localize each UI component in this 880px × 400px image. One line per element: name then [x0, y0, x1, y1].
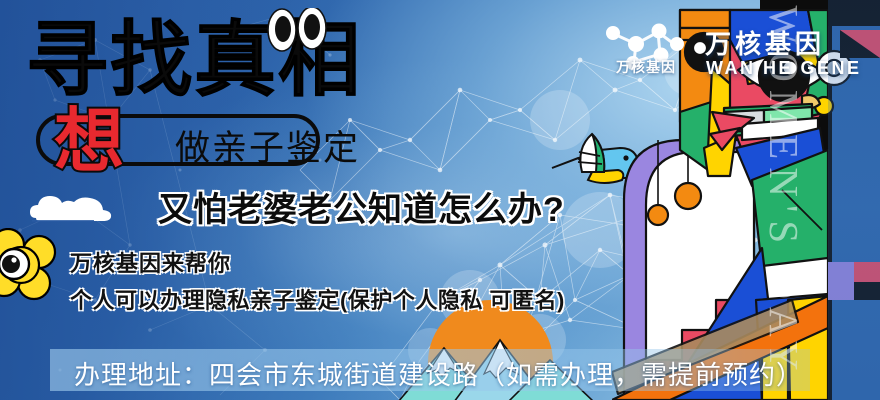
brand-molecule-label: 万核基因 [600, 57, 692, 77]
accent-character: 想 [54, 106, 124, 176]
address-text: 办理地址：四会市东城街道建设路（如需办理，需提前预约） [74, 355, 803, 392]
cartoon-eyes-icon [266, 8, 328, 52]
banner-root: WOMEN'S DAY 万核基因 万核基因 WAN HE GENE 寻找真相 做… [0, 0, 880, 400]
body-line-1: 万核基因来帮你 [70, 246, 231, 278]
flower-eye-icon [0, 228, 60, 304]
body-line-2: 个人可以办理隐私亲子鉴定(保护个人隐私 可匿名) [70, 283, 565, 315]
brand-name-cn: 万核基因 [705, 24, 825, 61]
cloud-icon [28, 190, 114, 224]
service-pill-label: 做亲子鉴定 [175, 120, 360, 171]
subheadline: 又怕老婆老公知道怎么办? [158, 182, 565, 231]
brand-name-en: WAN HE GENE [706, 58, 862, 79]
